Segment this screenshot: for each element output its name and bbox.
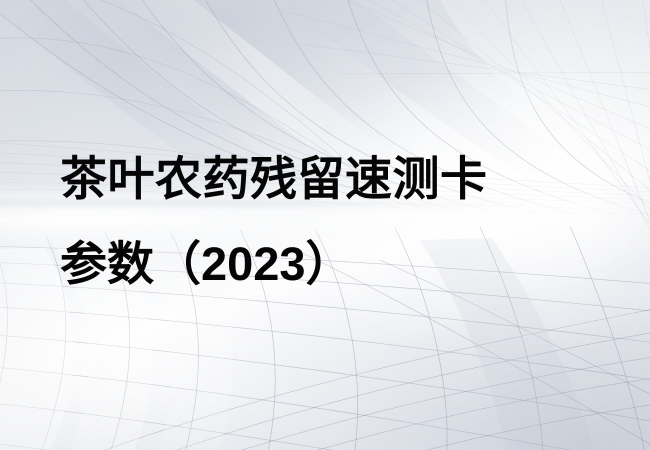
title-line-2: 参数（2023）	[60, 221, 600, 306]
title-block: 茶叶农药残留速测卡 参数（2023）	[60, 136, 600, 306]
title-line-1: 茶叶农药残留速测卡	[60, 136, 600, 221]
title-banner: 茶叶农药残留速测卡 参数（2023）	[0, 0, 650, 450]
